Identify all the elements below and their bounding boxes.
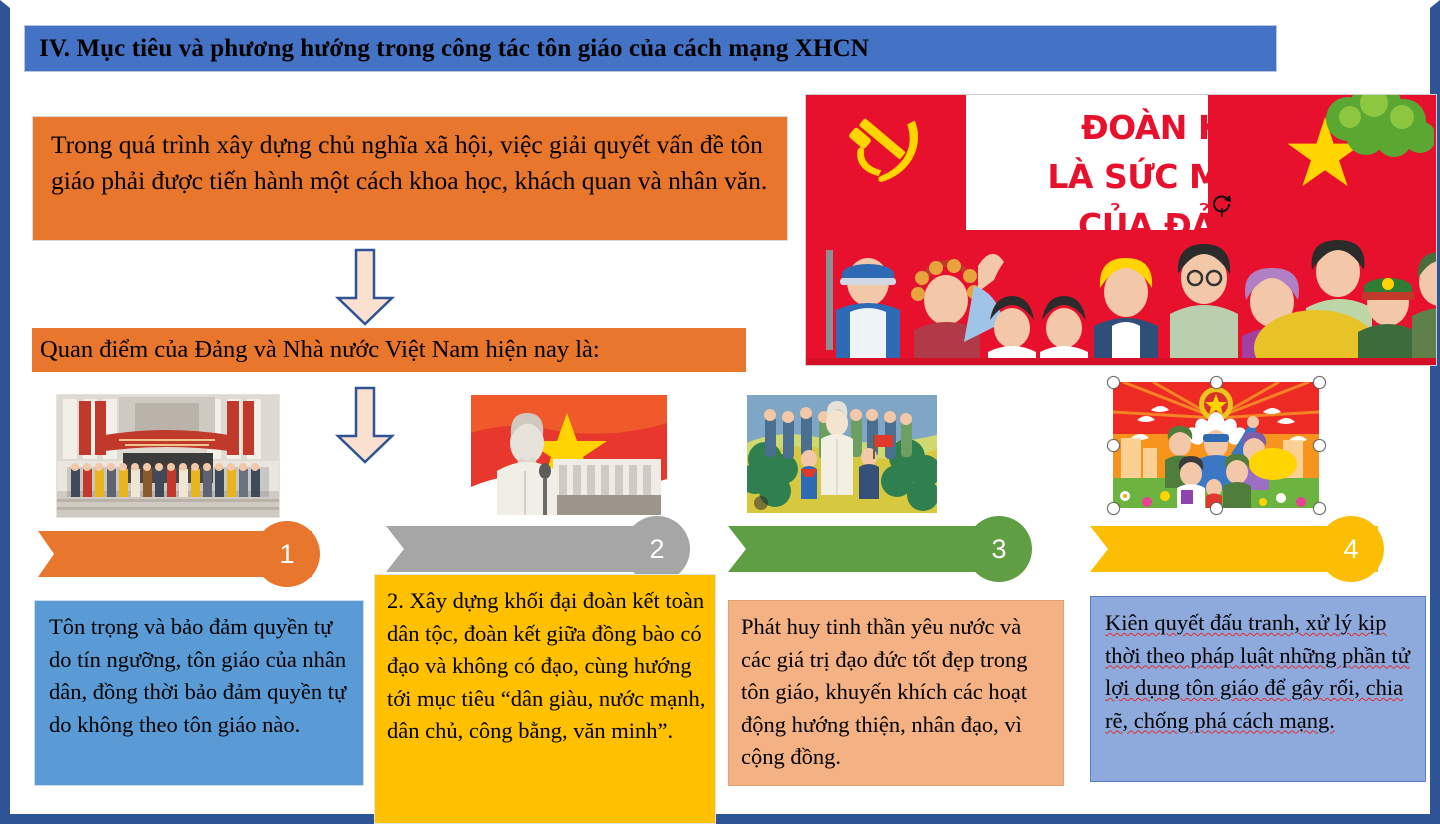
chevron-number-1: 1	[254, 521, 320, 587]
rotate-handle-cursor-icon[interactable]	[1209, 191, 1235, 217]
chevron-banner-1[interactable]: 1	[12, 531, 312, 577]
banner-crowd-illustration	[806, 230, 1437, 366]
selection-handle-middle-right[interactable]	[1313, 439, 1326, 452]
content-box-1-text: Tôn trọng và bảo đảm quyền tự do tín ngư…	[49, 611, 355, 741]
content-box-4[interactable]: Kiên quyết đấu tranh, xử lý kịp thời the…	[1090, 596, 1426, 782]
thumbnail-religious-delegates[interactable]	[56, 394, 280, 518]
selection-handle-bottom-center[interactable]	[1210, 502, 1223, 515]
slide-canvas: IV. Mục tiêu và phương hướng trong công …	[10, 8, 1440, 832]
thumbnail-ho-chi-minh-painting[interactable]	[747, 395, 937, 513]
statement-box[interactable]: Trong quá trình xây dựng chủ nghĩa xã hộ…	[32, 116, 788, 241]
selection-handle-top-right[interactable]	[1313, 376, 1326, 389]
down-arrow-2[interactable]	[335, 386, 395, 464]
hammer-and-sickle-icon	[840, 113, 936, 199]
chevron-banner-4[interactable]: 4	[1090, 526, 1378, 572]
selection-handle-bottom-right[interactable]	[1313, 502, 1326, 515]
chevron-number-3: 3	[966, 516, 1032, 582]
chevron-number-2: 2	[624, 516, 690, 582]
slide-frame: IV. Mục tiêu và phương hướng trong công …	[0, 0, 1440, 824]
selection-handle-bottom-left[interactable]	[1107, 502, 1120, 515]
doan-ket-banner-image[interactable]: ĐOÀN KẾT LÀ SỨC MẠNH CỦA ĐẢNG	[805, 94, 1437, 366]
content-box-1[interactable]: Tôn trọng và bảo đảm quyền tự do tín ngư…	[34, 600, 364, 786]
subheading-bar[interactable]: Quan điểm của Đảng và Nhà nước Việt Nam …	[32, 328, 746, 372]
statement-text: Trong quá trình xây dựng chủ nghĩa xã hộ…	[51, 130, 767, 195]
content-box-2[interactable]: 2. Xây dựng khối đại đoàn kết toàn dân t…	[374, 574, 716, 824]
chevron-banner-2[interactable]: 2	[386, 526, 680, 572]
slide-title-bar[interactable]: IV. Mục tiêu và phương hướng trong công …	[24, 25, 1277, 72]
selection-handle-top-left[interactable]	[1107, 376, 1120, 389]
content-box-2-text: 2. Xây dựng khối đại đoàn kết toàn dân t…	[387, 585, 707, 748]
thumbnail-ho-chi-minh-flag[interactable]	[471, 395, 667, 515]
page-title: IV. Mục tiêu và phương hướng trong công …	[25, 35, 869, 63]
chevron-banner-3[interactable]: 3	[728, 526, 1022, 572]
image-selection-handles[interactable]	[1113, 382, 1319, 508]
banner-slogan-line-2: LÀ SỨC MẠNH	[974, 152, 1374, 201]
subheading-text: Quan điểm của Đảng và Nhà nước Việt Nam …	[40, 336, 600, 364]
down-arrow-1[interactable]	[335, 248, 395, 326]
content-box-3-text: Phát huy tinh thần yêu nước và các giá t…	[741, 611, 1055, 774]
content-box-3[interactable]: Phát huy tinh thần yêu nước và các giá t…	[728, 600, 1064, 786]
selection-handle-middle-left[interactable]	[1107, 439, 1120, 452]
chevron-number-4: 4	[1318, 516, 1384, 582]
selection-handle-top-center[interactable]	[1210, 376, 1223, 389]
content-box-4-text: Kiên quyết đấu tranh, xử lý kịp thời the…	[1105, 607, 1417, 737]
foliage-illustration	[1314, 94, 1434, 157]
